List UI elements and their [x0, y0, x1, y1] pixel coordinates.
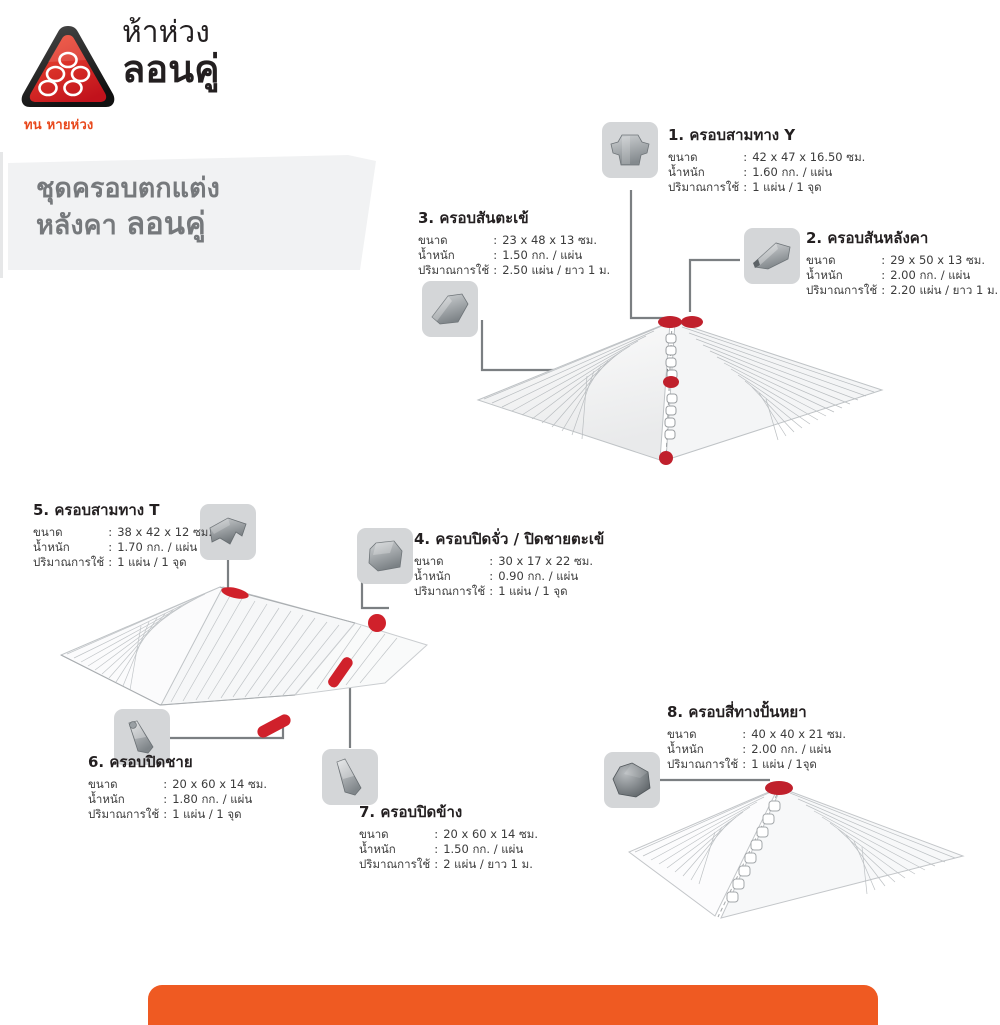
spec-value-weight: 2.00 กก. / แผ่น	[751, 742, 846, 757]
product-info-6: 6. ครอบปิดชาย ขนาด:20 x 60 x 14 ซม. น้ำห…	[88, 750, 267, 822]
spec-value-size: 40 x 40 x 21 ซม.	[751, 727, 846, 742]
t-ridge-cap-icon	[206, 514, 250, 550]
product-specs-table: ขนาด:38 x 42 x 12 ซม. น้ำหนัก:1.70 กก. /…	[33, 525, 212, 570]
thumbnail-four-way-hip-cap[interactable]	[604, 752, 660, 808]
spec-colon: :	[108, 555, 117, 570]
brand-name-line1: ห้าห่วง	[122, 18, 262, 48]
spec-value-size: 23 x 48 x 13 ซม.	[502, 233, 610, 248]
brand-tagline: ทน หายห่วง	[24, 114, 134, 135]
infographic-page: ทน หายห่วง ห้าห่วง ลอนคู่ ชุดครอบตกแต่ง …	[0, 0, 1000, 1000]
product-specs-table: ขนาด:20 x 60 x 14 ซม. น้ำหนัก:1.50 กก. /…	[359, 827, 538, 872]
product-specs-table: ขนาด:29 x 50 x 13 ซม. น้ำหนัก:2.00 กก. /…	[806, 253, 998, 298]
spec-value-weight: 1.60 กก. / แผ่น	[752, 165, 865, 180]
spec-value-usage: 2.20 แผ่น / ยาว 1 ม.	[890, 283, 998, 298]
thumbnail-hip-ridge-cap[interactable]	[422, 281, 478, 337]
spec-row-usage: ปริมาณการใช้:1 แผ่น / 1 จุด	[33, 555, 212, 570]
product-title: 3. ครอบสันตะเข้	[418, 206, 610, 230]
spec-label-usage: ปริมาณการใช้	[414, 584, 489, 599]
spec-label-weight: น้ำหนัก	[88, 792, 163, 807]
spec-label-size: ขนาด	[668, 150, 743, 165]
spec-row-size: ขนาด:42 x 47 x 16.50 ซม.	[668, 150, 865, 165]
banner-title-line1: ชุดครอบตกแต่ง	[36, 172, 366, 206]
spec-label-weight: น้ำหนัก	[418, 248, 493, 263]
spec-value-weight: 2.00 กก. / แผ่น	[890, 268, 998, 283]
spec-label-size: ขนาด	[359, 827, 434, 842]
spec-value-size: 20 x 60 x 14 ซม.	[443, 827, 538, 842]
spec-row-weight: น้ำหนัก:1.80 กก. / แผ่น	[88, 792, 267, 807]
y-ridge-cap-icon	[609, 131, 651, 169]
spec-label-usage: ปริมาณการใช้	[668, 180, 743, 195]
spec-label-weight: น้ำหนัก	[414, 569, 489, 584]
spec-row-usage: ปริมาณการใช้:1 แผ่น / 1 จุด	[88, 807, 267, 822]
product-specs-table: ขนาด:30 x 17 x 22 ซม. น้ำหนัก:0.90 กก. /…	[414, 554, 593, 599]
spec-row-size: ขนาด:20 x 60 x 14 ซม.	[359, 827, 538, 842]
spec-row-size: ขนาด:38 x 42 x 12 ซม.	[33, 525, 212, 540]
product-info-7: 7. ครอบปิดข้าง ขนาด:20 x 60 x 14 ซม. น้ำ…	[359, 800, 538, 872]
spec-value-weight: 1.80 กก. / แผ่น	[172, 792, 267, 807]
spec-label-usage: ปริมาณการใช้	[418, 263, 493, 278]
spec-value-size: 30 x 17 x 22 ซม.	[498, 554, 593, 569]
spec-colon: :	[489, 569, 498, 584]
spec-value-usage: 2 แผ่น / ยาว 1 ม.	[443, 857, 538, 872]
spec-label-weight: น้ำหนัก	[33, 540, 108, 555]
spec-colon: :	[434, 827, 443, 842]
spec-value-usage: 1 แผ่น / 1 จุด	[752, 180, 865, 195]
spec-colon: :	[108, 540, 117, 555]
spec-row-usage: ปริมาณการใช้:2.50 แผ่น / ยาว 1 ม.	[418, 263, 610, 278]
spec-value-usage: 1 แผ่น / 1 จุด	[117, 555, 212, 570]
thumbnail-ridge-cap[interactable]	[744, 228, 800, 284]
product-title: 7. ครอบปิดข้าง	[359, 800, 538, 824]
pyramid-hip-roof-diagram	[605, 770, 1000, 940]
banner-title-line2-highlight: ลอนคู่	[126, 206, 206, 242]
product-specs-table: ขนาด:42 x 47 x 16.50 ซม. น้ำหนัก:1.60 กก…	[668, 150, 865, 195]
spec-value-weight: 1.70 กก. / แผ่น	[117, 540, 212, 555]
product-title: 6. ครอบปิดชาย	[88, 750, 267, 774]
spec-colon: :	[489, 554, 498, 569]
spec-row-size: ขนาด:30 x 17 x 22 ซม.	[414, 554, 593, 569]
spec-value-usage: 2.50 แผ่น / ยาว 1 ม.	[502, 263, 610, 278]
product-title: 8. ครอบสี่ทางปั้นหยา	[667, 700, 846, 724]
spec-label-size: ขนาด	[88, 777, 163, 792]
spec-colon: :	[742, 727, 751, 742]
ridge-cap-icon	[750, 239, 794, 273]
spec-colon: :	[434, 857, 443, 872]
product-specs-table: ขนาด:40 x 40 x 21 ซม. น้ำหนัก:2.00 กก. /…	[667, 727, 846, 772]
spec-value-weight: 1.50 กก. / แผ่น	[443, 842, 538, 857]
spec-value-usage: 1 แผ่น / 1จุด	[751, 757, 846, 772]
spec-row-usage: ปริมาณการใช้:2.20 แผ่น / ยาว 1 ม.	[806, 283, 998, 298]
spec-row-weight: น้ำหนัก:2.00 กก. / แผ่น	[667, 742, 846, 757]
banner-left-edge	[0, 152, 3, 278]
spec-label-size: ขนาด	[667, 727, 742, 742]
banner-title-line2-prefix: หลังคา	[36, 210, 126, 241]
product-info-1: 1. ครอบสามทาง Y ขนาด:42 x 47 x 16.50 ซม.…	[668, 123, 865, 195]
spec-label-size: ขนาด	[418, 233, 493, 248]
spec-label-size: ขนาด	[414, 554, 489, 569]
product-info-5: 5. ครอบสามทาง T ขนาด:38 x 42 x 12 ซม. น้…	[33, 498, 212, 570]
brand-wordmark: ห้าห่วง ลอนคู่	[122, 18, 262, 88]
spec-label-weight: น้ำหนัก	[668, 165, 743, 180]
spec-label-size: ขนาด	[806, 253, 881, 268]
spec-colon: :	[163, 807, 172, 822]
hip-roof-top-diagram	[470, 300, 890, 480]
spec-row-weight: น้ำหนัก:2.00 กก. / แผ่น	[806, 268, 998, 283]
product-specs-table: ขนาด:20 x 60 x 14 ซม. น้ำหนัก:1.80 กก. /…	[88, 777, 267, 822]
spec-colon: :	[163, 792, 172, 807]
spec-value-weight: 1.50 กก. / แผ่น	[502, 248, 610, 263]
spec-label-size: ขนาด	[33, 525, 108, 540]
spec-colon: :	[743, 180, 752, 195]
spec-row-weight: น้ำหนัก:0.90 กก. / แผ่น	[414, 569, 593, 584]
spec-value-usage: 1 แผ่น / 1 จุด	[498, 584, 593, 599]
product-info-4: 4. ครอบปิดจั่ว / ปิดชายตะเข้ ขนาด:30 x 1…	[414, 527, 604, 599]
spec-value-size: 38 x 42 x 12 ซม.	[117, 525, 212, 540]
spec-row-size: ขนาด:29 x 50 x 13 ซม.	[806, 253, 998, 268]
product-specs-table: ขนาด:23 x 48 x 13 ซม. น้ำหนัก:1.50 กก. /…	[418, 233, 610, 278]
spec-value-size: 20 x 60 x 14 ซม.	[172, 777, 267, 792]
thumbnail-y-ridge-cap[interactable]	[602, 122, 658, 178]
spec-colon: :	[434, 842, 443, 857]
spec-row-size: ขนาด:23 x 48 x 13 ซม.	[418, 233, 610, 248]
brand-logo: ทน หายห่วง ห้าห่วง ลอนคู่	[18, 22, 248, 134]
spec-colon: :	[743, 150, 752, 165]
product-title: 1. ครอบสามทาง Y	[668, 123, 865, 147]
spec-label-weight: น้ำหนัก	[806, 268, 881, 283]
spec-row-usage: ปริมาณการใช้:1 แผ่น / 1 จุด	[668, 180, 865, 195]
spec-row-usage: ปริมาณการใช้:2 แผ่น / ยาว 1 ม.	[359, 857, 538, 872]
spec-row-weight: น้ำหนัก:1.50 กก. / แผ่น	[418, 248, 610, 263]
spec-label-weight: น้ำหนัก	[359, 842, 434, 857]
spec-row-size: ขนาด:20 x 60 x 14 ซม.	[88, 777, 267, 792]
spec-colon: :	[881, 253, 890, 268]
brand-name-line2: ลอนคู่	[122, 50, 262, 88]
spec-colon: :	[493, 248, 502, 263]
gable-end-cap-icon	[364, 537, 406, 575]
spec-row-weight: น้ำหนัก:1.70 กก. / แผ่น	[33, 540, 212, 555]
spec-label-usage: ปริมาณการใช้	[806, 283, 881, 298]
banner-title: ชุดครอบตกแต่ง หลังคา ลอนคู่	[36, 172, 366, 244]
spec-label-weight: น้ำหนัก	[667, 742, 742, 757]
spec-colon: :	[742, 742, 751, 757]
spec-row-usage: ปริมาณการใช้:1 แผ่น / 1จุด	[667, 757, 846, 772]
product-title: 5. ครอบสามทาง T	[33, 498, 212, 522]
spec-colon: :	[881, 268, 890, 283]
product-info-8: 8. ครอบสี่ทางปั้นหยา ขนาด:40 x 40 x 21 ซ…	[667, 700, 846, 772]
highlight-marker	[765, 781, 793, 795]
spec-row-usage: ปริมาณการใช้:1 แผ่น / 1 จุด	[414, 584, 593, 599]
spec-colon: :	[881, 283, 890, 298]
triangle-five-rings-logo-icon	[18, 22, 118, 114]
product-title: 4. ครอบปิดจั่ว / ปิดชายตะเข้	[414, 527, 604, 551]
spec-colon: :	[163, 777, 172, 792]
spec-label-usage: ปริมาณการใช้	[667, 757, 742, 772]
spec-colon: :	[743, 165, 752, 180]
four-way-hip-cap-icon	[610, 760, 654, 800]
spec-value-weight: 0.90 กก. / แผ่น	[498, 569, 593, 584]
banner-title-line2: หลังคา ลอนคู่	[36, 206, 366, 244]
side-cap-icon	[331, 756, 369, 798]
thumbnail-gable-end-cap[interactable]	[357, 528, 413, 584]
spec-colon: :	[742, 757, 751, 772]
spec-row-size: ขนาด:40 x 40 x 21 ซม.	[667, 727, 846, 742]
product-title: 2. ครอบสันหลังคา	[806, 226, 998, 250]
product-info-2: 2. ครอบสันหลังคา ขนาด:29 x 50 x 13 ซม. น…	[806, 226, 998, 298]
spec-row-weight: น้ำหนัก:1.50 กก. / แผ่น	[359, 842, 538, 857]
spec-colon: :	[493, 263, 502, 278]
spec-value-usage: 1 แผ่น / 1 จุด	[172, 807, 267, 822]
product-info-3: 3. ครอบสันตะเข้ ขนาด:23 x 48 x 13 ซม. น้…	[418, 206, 610, 278]
spec-colon: :	[493, 233, 502, 248]
spec-colon: :	[108, 525, 117, 540]
spec-colon: :	[489, 584, 498, 599]
spec-value-size: 42 x 47 x 16.50 ซม.	[752, 150, 865, 165]
spec-row-weight: น้ำหนัก:1.60 กก. / แผ่น	[668, 165, 865, 180]
thumbnail-side-cap[interactable]	[322, 749, 378, 805]
spec-label-usage: ปริมาณการใช้	[359, 857, 434, 872]
spec-value-size: 29 x 50 x 13 ซม.	[890, 253, 998, 268]
bottom-accent-bar	[148, 985, 878, 1025]
spec-label-usage: ปริมาณการใช้	[33, 555, 108, 570]
hip-ridge-cap-icon	[428, 291, 472, 327]
spec-label-usage: ปริมาณการใช้	[88, 807, 163, 822]
